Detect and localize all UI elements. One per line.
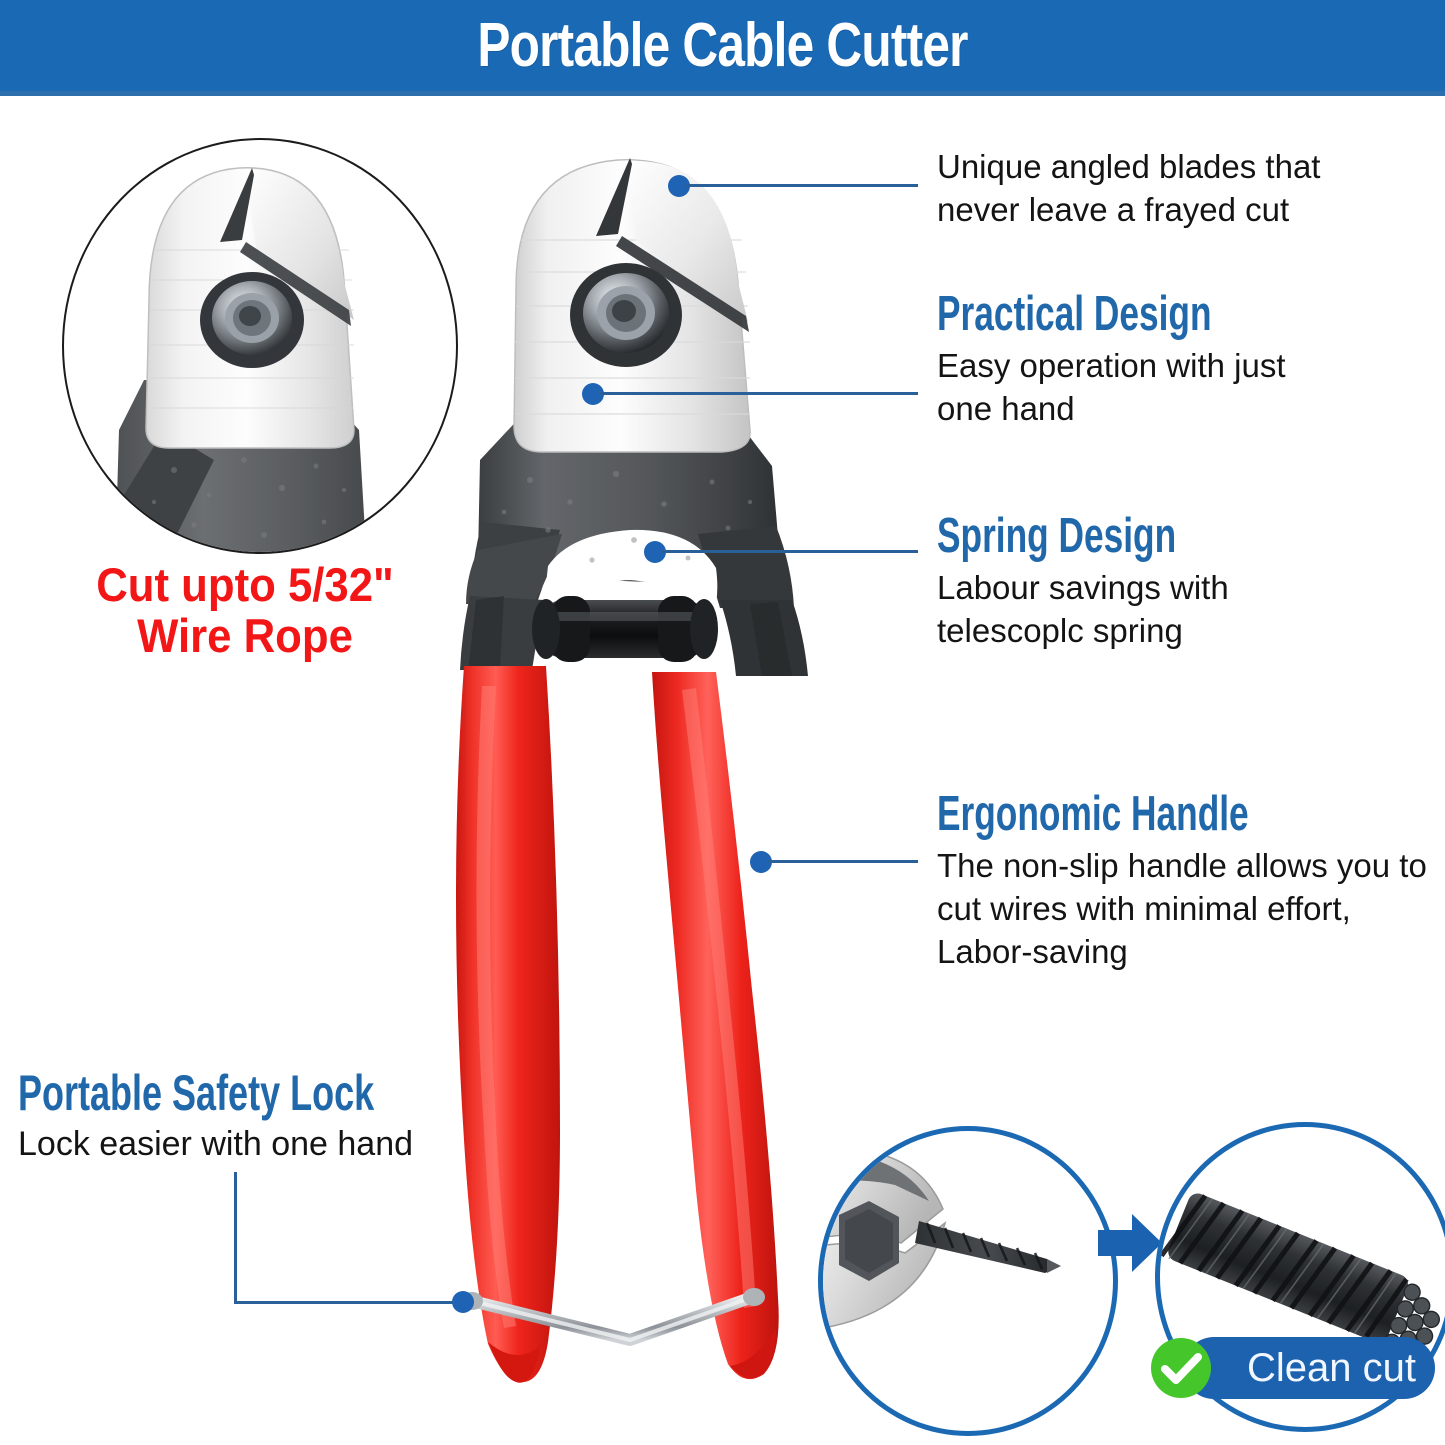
callout-practical-design: Practical Design Easy operation with jus… [937,290,1337,431]
callout-lock-body: Lock easier with one hand [18,1122,458,1166]
callout-practical-body: Easy operation with just one hand [937,345,1337,431]
callout-line-blades [686,184,918,187]
right-arrow-icon [1096,1212,1164,1274]
callout-line-ergonomic [768,860,918,863]
callout-line-lock-vertical [234,1172,237,1304]
callout-practical-heading: Practical Design [937,290,1225,339]
cutter-cutting-cable-illustration [823,1131,1113,1431]
callout-blades: Unique angled blades that never leave a … [937,146,1337,232]
page-title: Portable Cable Cutter [145,0,1301,91]
cut-capacity-caption: Cut upto 5/32" Wire Rope [45,560,445,662]
callout-ergonomic-handle: Ergonomic Handle The non-slip handle all… [937,790,1445,974]
infographic-canvas: Portable Cable Cutter [0,0,1445,1445]
header-banner: Portable Cable Cutter [0,0,1445,96]
check-icon [1151,1338,1211,1398]
callout-dot-lock [452,1291,474,1313]
cut-capacity-line1: Cut upto 5/32" [45,560,445,611]
callout-line-lock-horizontal [234,1301,462,1304]
cut-capacity-line2: Wire Rope [45,611,445,662]
right-handle-art [652,672,779,1379]
callout-spring-heading: Spring Design [937,512,1225,561]
callout-spring-design: Spring Design Labour savings with telesc… [937,512,1337,653]
callout-line-spring [662,550,918,553]
callout-spring-body: Labour savings with telescoplc spring [937,567,1337,653]
callout-lock-heading: Portable Safety Lock [18,1068,335,1118]
callout-ergonomic-body: The non-slip handle allows you to cut wi… [937,845,1445,974]
closeup-circle-inset [62,138,458,554]
badge-label: Clean cut [1247,1337,1416,1399]
telescopic-spring-art [532,596,718,662]
demo-circle-before [818,1126,1118,1436]
cable-cutter-illustration [420,130,840,1430]
cutter-head-closeup-illustration [62,138,458,554]
callout-ergonomic-heading: Ergonomic Handle [937,790,1304,839]
callout-line-practical [600,392,918,395]
callout-portable-safety-lock: Portable Safety Lock Lock easier with on… [18,1068,458,1166]
callout-blades-body: Unique angled blades that never leave a … [937,146,1337,232]
